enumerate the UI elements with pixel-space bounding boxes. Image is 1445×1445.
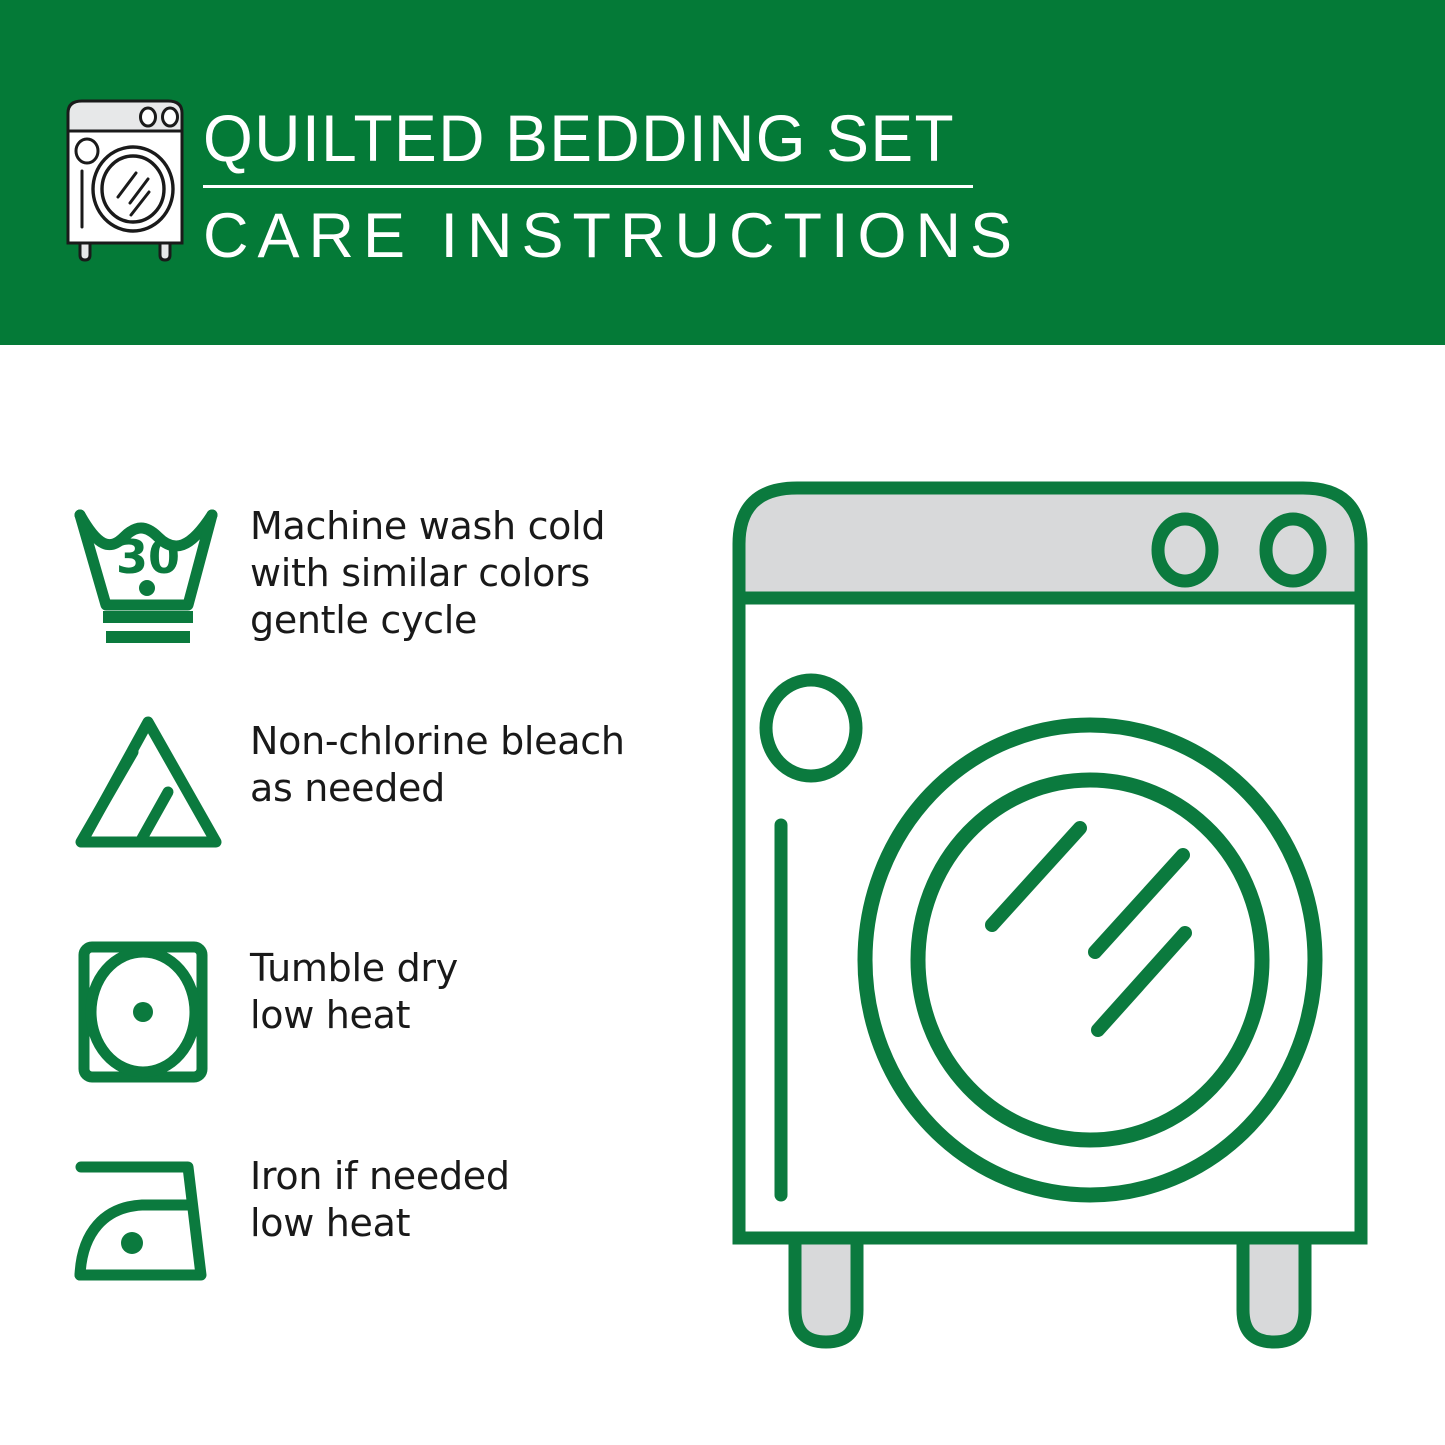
page-subtitle: CARE INSTRUCTIONS (203, 201, 993, 271)
care-text-machine-wash: Machine wash cold with similar colors ge… (250, 495, 605, 644)
header-divider (203, 185, 973, 188)
care-instruction-list: 30 Machine wash cold with similar colors… (0, 345, 700, 1445)
care-text-iron: Iron if needed low heat (250, 1145, 510, 1247)
tumble-dry-low-icon (70, 937, 230, 1087)
care-text-bleach: Non-chlorine bleach as needed (250, 710, 625, 812)
care-instructions-page: QUILTED BEDDING SET CARE INSTRUCTIONS (0, 0, 1445, 1445)
non-chlorine-bleach-triangle-icon (70, 710, 230, 860)
care-text-tumble-dry: Tumble dry low heat (250, 937, 458, 1039)
care-row-bleach: Non-chlorine bleach as needed (70, 710, 690, 860)
care-text-line: Machine wash cold (250, 503, 605, 550)
care-text-line: Iron if needed (250, 1153, 510, 1200)
page-title: QUILTED BEDDING SET (203, 100, 969, 176)
header-banner: QUILTED BEDDING SET CARE INSTRUCTIONS (0, 0, 1445, 345)
care-text-line: low heat (250, 992, 458, 1039)
care-row-iron: Iron if needed low heat (70, 1145, 690, 1295)
wash-temperature-value: 30 (116, 530, 180, 584)
care-row-machine-wash: 30 Machine wash cold with similar colors… (70, 495, 690, 645)
leg-right (1243, 1238, 1305, 1342)
wash-tub-30-icon: 30 (70, 495, 230, 645)
header-text-block: QUILTED BEDDING SET CARE INSTRUCTIONS (203, 100, 993, 271)
care-row-tumble-dry: Tumble dry low heat (70, 937, 690, 1087)
care-text-line: Tumble dry (250, 945, 458, 992)
washing-machine-logo-icon (60, 97, 190, 262)
care-text-line: low heat (250, 1200, 510, 1247)
care-text-line: Non-chlorine bleach (250, 718, 625, 765)
latch-circle (766, 680, 856, 776)
leg-left (795, 1238, 857, 1342)
care-text-line: with similar colors (250, 550, 605, 597)
control-knob-right (1266, 519, 1320, 581)
iron-low-heat-icon (70, 1145, 230, 1295)
control-knob-left (1158, 519, 1212, 581)
care-text-line: as needed (250, 765, 625, 812)
care-text-line: gentle cycle (250, 597, 605, 644)
washing-machine-illustration (715, 470, 1405, 1370)
